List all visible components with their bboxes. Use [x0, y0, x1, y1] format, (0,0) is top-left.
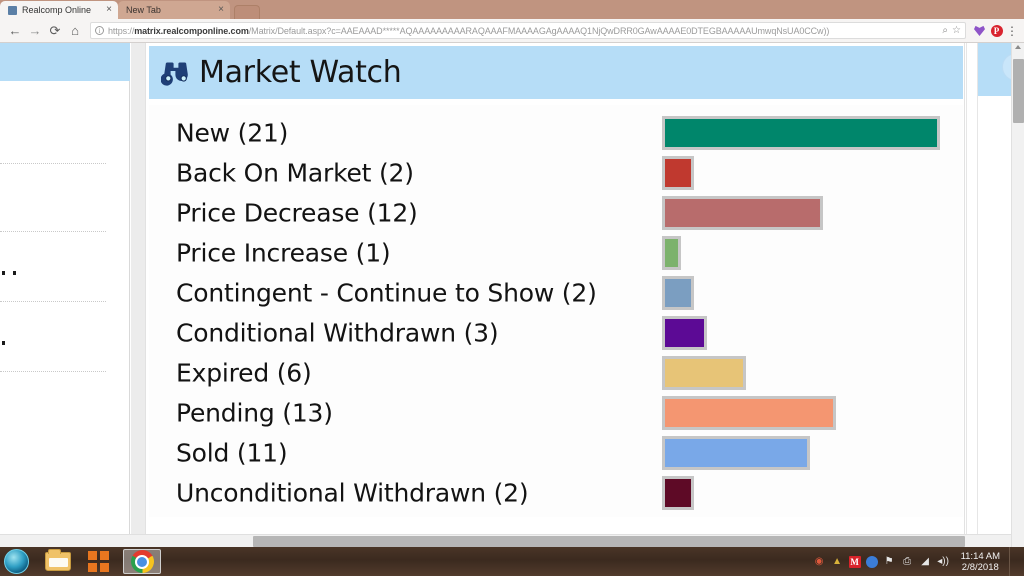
tab-strip: Realcomp Online × New Tab × — [0, 0, 1024, 19]
market-watch-bar-chart: New (21)Back On Market (2)Price Decrease… — [149, 105, 963, 517]
divider — [0, 163, 106, 164]
chart-bar-track — [662, 396, 836, 430]
chart-row-label: Back On Market (2) — [176, 159, 414, 188]
list-marker — [2, 341, 5, 345]
chart-bar[interactable] — [662, 356, 746, 390]
mcafee-icon[interactable]: M — [849, 556, 861, 568]
clock-date: 2/8/2018 — [961, 562, 1000, 573]
chart-row-label: Pending (13) — [176, 399, 333, 428]
taskbar-item-google-chrome[interactable] — [123, 549, 161, 574]
chart-row-label: Conditional Withdrawn (3) — [176, 319, 498, 348]
chart-row[interactable]: New (21) — [149, 113, 963, 153]
chart-row[interactable]: Back On Market (2) — [149, 153, 963, 193]
start-button[interactable] — [4, 549, 29, 574]
chart-bar[interactable] — [662, 476, 694, 510]
chart-bar-track — [662, 436, 810, 470]
chart-bar[interactable] — [662, 396, 836, 430]
chart-row-label: Expired (6) — [176, 359, 312, 388]
messenger-icon[interactable] — [866, 556, 878, 568]
panel-gutter — [131, 43, 145, 547]
chart-bar-track — [662, 316, 707, 350]
divider — [0, 301, 106, 302]
action-center-icon[interactable]: ◉ — [813, 555, 826, 568]
volume-icon[interactable]: ◂)) — [937, 555, 950, 568]
clock-time: 11:14 AM — [961, 551, 1000, 562]
chart-row[interactable]: Unconditional Withdrawn (2) — [149, 473, 963, 513]
list-marker — [13, 271, 16, 275]
chart-row-label: Sold (11) — [176, 439, 287, 468]
site-favicon-icon — [8, 6, 17, 15]
folder-icon — [45, 552, 71, 571]
url-domain: matrix.realcomponline.com — [134, 26, 249, 36]
divider — [966, 43, 967, 547]
forward-icon[interactable]: → — [26, 22, 44, 40]
chart-bar-track — [662, 196, 823, 230]
warning-icon[interactable]: ▲ — [831, 555, 844, 568]
network-icon[interactable]: ◢ — [919, 555, 932, 568]
chart-row[interactable]: Pending (13) — [149, 393, 963, 433]
chart-row-label: Contingent - Continue to Show (2) — [176, 279, 597, 308]
chart-row[interactable]: Conditional Withdrawn (3) — [149, 313, 963, 353]
chart-row-label: Unconditional Withdrawn (2) — [176, 479, 528, 508]
browser-toolbar: ← → ⟳ ⌂ i https://matrix.realcomponline.… — [0, 19, 1024, 43]
chrome-menu-icon[interactable]: ⋮ — [1006, 24, 1018, 38]
chart-row[interactable]: Expired (6) — [149, 353, 963, 393]
divider — [977, 43, 978, 547]
new-tab-button[interactable] — [234, 5, 260, 19]
binoculars-icon — [161, 60, 191, 86]
horizontal-scrollbar[interactable] — [0, 534, 1011, 547]
search-icon[interactable]: ⌕ — [942, 25, 948, 36]
scroll-up-arrow-icon[interactable] — [1015, 45, 1021, 49]
flag-icon[interactable]: ⚑ — [883, 555, 896, 568]
printer-icon[interactable]: ⎙ — [901, 555, 914, 568]
left-panel-header-band — [0, 43, 130, 81]
pocket-extension-icon[interactable] — [972, 23, 987, 38]
chart-row[interactable]: Contingent - Continue to Show (2) — [149, 273, 963, 313]
left-side-panel — [0, 43, 130, 547]
tab-close-icon[interactable]: × — [106, 5, 112, 15]
chart-bar-track — [662, 356, 746, 390]
taskbar-item-office-apps[interactable] — [81, 549, 119, 574]
chart-row-label: Price Decrease (12) — [176, 199, 418, 228]
browser-window: Realcomp Online × New Tab × ← → ⟳ ⌂ i ht… — [0, 0, 1024, 576]
tab-title: New Tab — [126, 5, 213, 15]
market-watch-card: Market Watch New (21)Back On Market (2)P… — [145, 43, 965, 547]
bookmark-star-icon[interactable]: ☆ — [952, 25, 961, 36]
tab-realcomp-online[interactable]: Realcomp Online × — [0, 1, 118, 19]
windows-taskbar: ◉ ▲ M ⚑ ⎙ ◢ ◂)) 11:14 AM 2/8/2018 — [0, 547, 1024, 576]
address-bar-url: https://matrix.realcomponline.com/Matrix… — [108, 26, 938, 36]
chart-bar[interactable] — [662, 116, 940, 150]
chart-bar-track — [662, 116, 940, 150]
chart-bar[interactable] — [662, 156, 694, 190]
home-icon[interactable]: ⌂ — [66, 22, 84, 40]
chart-row[interactable]: Price Increase (1) — [149, 233, 963, 273]
chart-row-label: Price Increase (1) — [176, 239, 391, 268]
pinterest-extension-icon[interactable]: P — [989, 23, 1004, 38]
chart-bar-track — [662, 156, 694, 190]
address-bar[interactable]: i https://matrix.realcomponline.com/Matr… — [90, 22, 966, 39]
chart-bar-track — [662, 476, 694, 510]
url-path: /Matrix/Default.aspx?c=AAEAAAD*****AQAAA… — [249, 26, 829, 36]
chart-bar[interactable] — [662, 196, 823, 230]
chart-row[interactable]: Price Decrease (12) — [149, 193, 963, 233]
chart-bar[interactable] — [662, 276, 694, 310]
chart-row-label: New (21) — [176, 119, 288, 148]
vertical-scrollbar[interactable] — [1011, 43, 1024, 547]
chart-bar-track — [662, 276, 694, 310]
tab-close-icon[interactable]: × — [218, 5, 224, 15]
divider — [0, 231, 106, 232]
chart-bar-track — [662, 236, 681, 270]
url-scheme: https:// — [108, 26, 134, 36]
market-watch-header: Market Watch — [149, 46, 963, 99]
divider — [0, 371, 106, 372]
show-desktop-button[interactable] — [1009, 547, 1016, 576]
chart-bar[interactable] — [662, 436, 810, 470]
taskbar-clock[interactable]: 11:14 AM 2/8/2018 — [955, 551, 1004, 573]
chart-bar[interactable] — [662, 316, 707, 350]
page-viewport: Market Watch New (21)Back On Market (2)P… — [0, 43, 1024, 547]
chrome-icon — [131, 550, 154, 573]
office-squares-icon — [88, 551, 112, 573]
reload-icon[interactable]: ⟳ — [46, 22, 64, 40]
page-title: Market Watch — [199, 55, 401, 90]
tab-new-tab[interactable]: New Tab × — [118, 1, 230, 19]
system-tray: ◉ ▲ M ⚑ ⎙ ◢ ◂)) 11:14 AM 2/8/2018 — [813, 547, 1020, 576]
vertical-scrollbar-thumb[interactable] — [1013, 59, 1024, 123]
chart-bar[interactable] — [662, 236, 681, 270]
back-icon[interactable]: ← — [6, 22, 24, 40]
horizontal-scrollbar-thumb[interactable] — [253, 536, 965, 547]
site-info-icon[interactable]: i — [95, 26, 104, 35]
tab-title: Realcomp Online — [22, 5, 101, 15]
chart-row[interactable]: Sold (11) — [149, 433, 963, 473]
taskbar-item-file-explorer[interactable] — [39, 549, 77, 574]
list-marker — [2, 271, 5, 275]
